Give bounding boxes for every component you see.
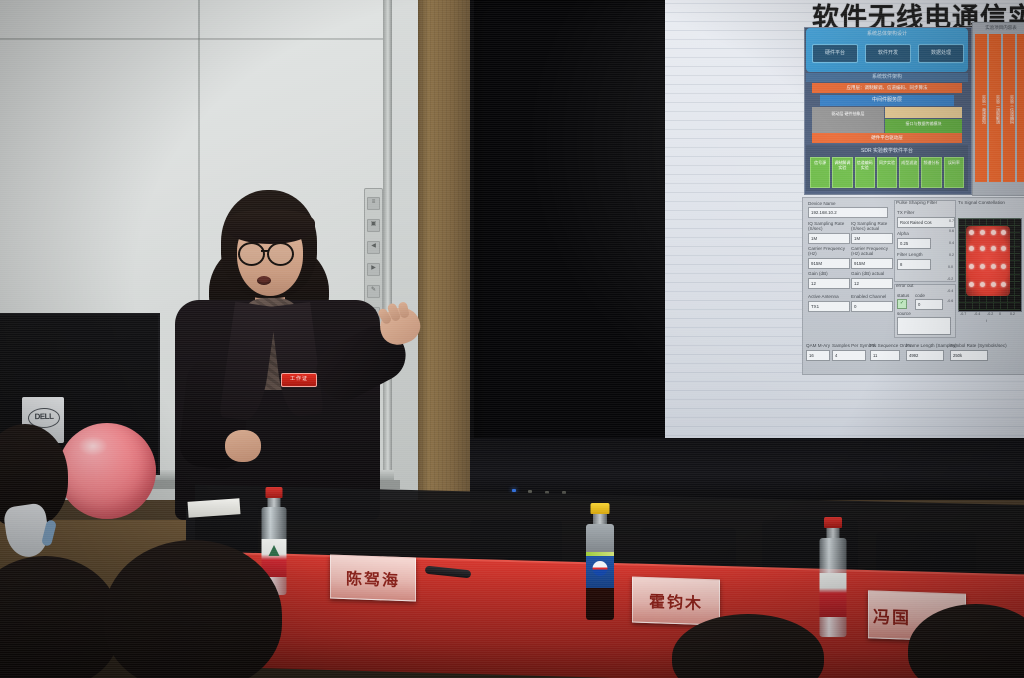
bottle-neck	[827, 528, 840, 538]
whiteboard-seam-horizontal	[0, 38, 386, 40]
bottle-neck	[593, 514, 607, 524]
bottle-label	[820, 573, 847, 617]
presenter-glasses-right-lens	[267, 242, 294, 266]
pepsi-logo	[593, 561, 608, 576]
bottle-cap	[591, 503, 610, 514]
bottle-cap	[266, 487, 283, 498]
pepsi-bottle	[583, 503, 617, 621]
presenter-glasses-bridge	[261, 250, 268, 252]
water-bottle-2	[816, 517, 850, 639]
name-placard-2: 霍钧木	[632, 576, 720, 625]
presenter-left-hand	[225, 430, 261, 462]
presenter-glasses-left-lens	[238, 242, 265, 266]
bottle-label-stripe	[586, 552, 614, 556]
photo-scene: ≡ ▣ ◀ ▶ ✎ ▨ 软件无线电通信实验平 系统总体架构设计 硬件平台 软件开…	[0, 0, 1024, 678]
presenter-bangs	[225, 210, 315, 244]
projection-glow	[470, 0, 1024, 486]
pink-balloon	[58, 423, 156, 519]
bottle-cap	[824, 517, 842, 528]
audience-head	[104, 540, 282, 678]
presenter: 工作证	[165, 190, 430, 520]
presenter-name-badge: 工作证	[281, 373, 317, 387]
bottle-neck	[268, 498, 281, 507]
name-placard-1: 陈驾海	[330, 554, 416, 601]
av-rack	[470, 438, 1024, 500]
presenter-mouth	[257, 276, 271, 285]
balloon-highlight	[78, 436, 108, 456]
